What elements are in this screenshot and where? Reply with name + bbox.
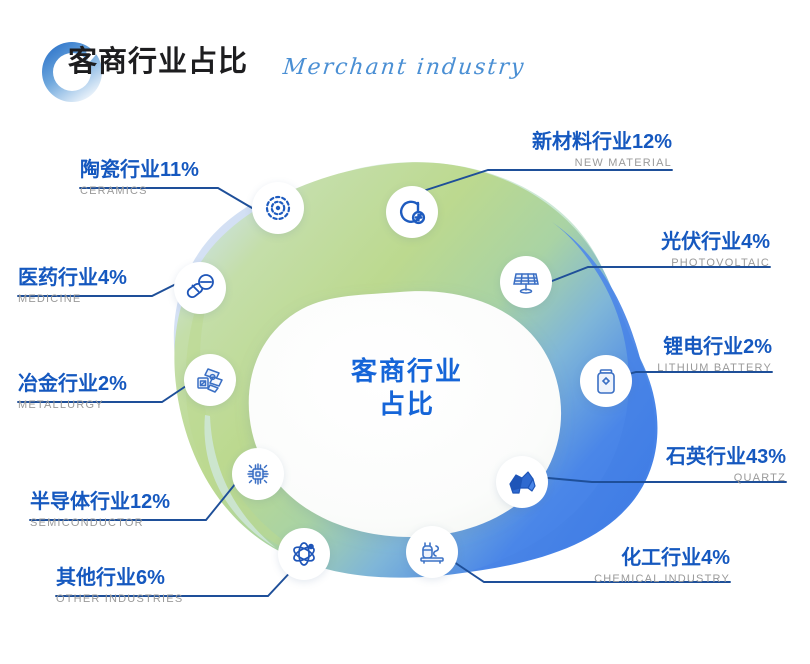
label-lithium-battery-en: LITHIUM BATTERY [562,361,772,376]
label-quartz-cn: 石英行业43% [566,447,786,468]
label-metallurgy[interactable]: 冶金行业2% METALLURGY [18,374,127,413]
chip-icon[interactable] [232,448,284,500]
label-new-material-cn: 新材料行业12% [472,132,672,153]
label-other-industries-cn: 其他行业6% [56,568,183,589]
center-caption-line1: 客商行业 [351,356,463,386]
label-medicine-cn: 医药行业4% [18,268,127,289]
label-medicine[interactable]: 医药行业4% MEDICINE [18,268,127,307]
label-photovoltaic-en: PHOTOVOLTAIC [560,256,770,271]
ceramics-icon[interactable] [252,182,304,234]
label-semiconductor-en: SEMICONDUCTOR [30,516,170,531]
label-metallurgy-cn: 冶金行业2% [18,374,127,395]
label-semiconductor[interactable]: 半导体行业12% SEMICONDUCTOR [30,492,170,531]
label-lithium-battery[interactable]: 锂电行业2% LITHIUM BATTERY [562,337,772,376]
label-photovoltaic-cn: 光伏行业4% [560,232,770,253]
quartz-crystal-icon[interactable] [496,456,548,508]
infographic-canvas: 客商行业占比 Merchant industry 客商行业 占比 [0,0,810,659]
label-ceramics-en: CERAMICS [80,184,199,199]
label-chemical-en: CHEMICAL INDUSTRY [520,572,730,587]
new-material-icon[interactable] [386,186,438,238]
chemical-plant-icon[interactable] [406,526,458,578]
center-caption: 客商行业 占比 [322,355,492,422]
label-semiconductor-cn: 半导体行业12% [30,492,170,513]
label-other-industries-en: OTHER INDUSTRIES [56,592,183,607]
label-chemical[interactable]: 化工行业4% CHEMICAL INDUSTRY [520,548,730,587]
label-photovoltaic[interactable]: 光伏行业4% PHOTOVOLTAIC [560,232,770,271]
solar-panel-icon[interactable] [500,256,552,308]
label-new-material[interactable]: 新材料行业12% NEW MATERIAL [472,132,672,171]
metallurgy-icon[interactable] [184,354,236,406]
page-title: 客商行业占比 [68,48,248,77]
label-medicine-en: MEDICINE [18,292,127,307]
pills-icon[interactable] [174,262,226,314]
atom-icon[interactable] [278,528,330,580]
label-chemical-cn: 化工行业4% [520,548,730,569]
label-lithium-battery-cn: 锂电行业2% [562,337,772,358]
label-other-industries[interactable]: 其他行业6% OTHER INDUSTRIES [56,568,183,607]
label-metallurgy-en: METALLURGY [18,398,127,413]
label-new-material-en: NEW MATERIAL [472,156,672,171]
label-ceramics[interactable]: 陶瓷行业11% CERAMICS [80,160,199,199]
label-quartz[interactable]: 石英行业43% QUARTZ [566,447,786,486]
center-caption-line2: 占比 [379,389,435,419]
page-subtitle: Merchant industry [282,57,527,79]
label-ceramics-cn: 陶瓷行业11% [80,160,199,181]
label-quartz-en: QUARTZ [566,471,786,486]
